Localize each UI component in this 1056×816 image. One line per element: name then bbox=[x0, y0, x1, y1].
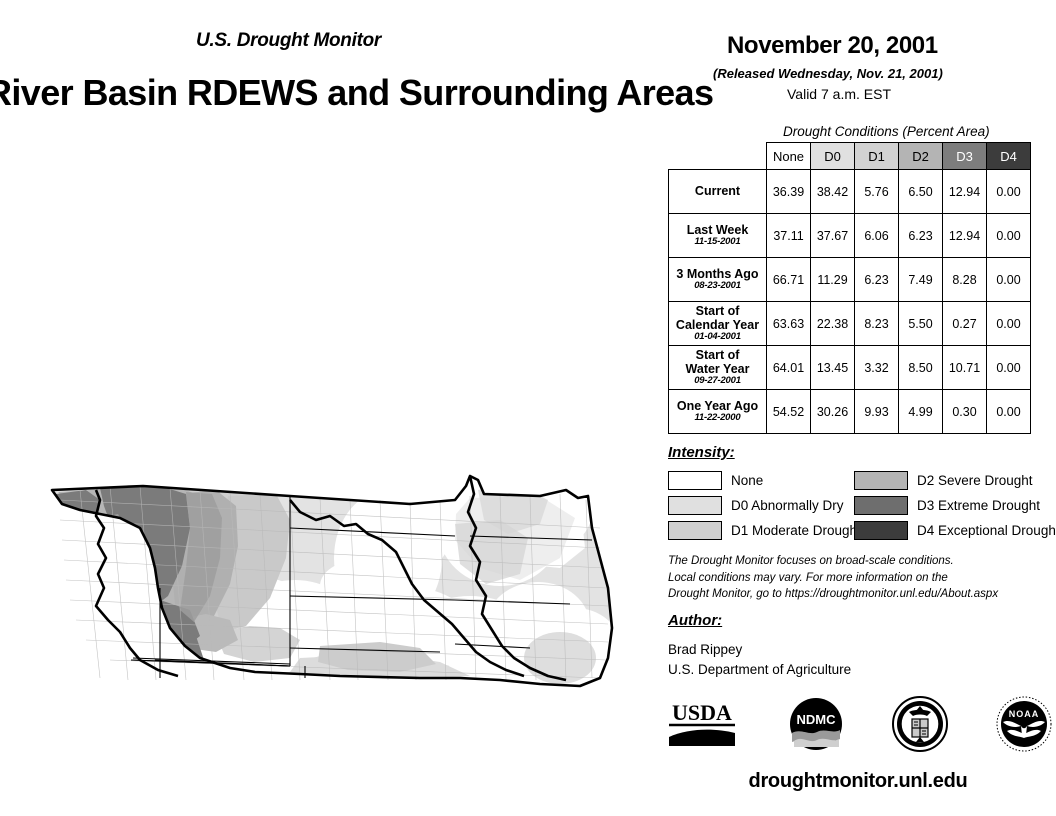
drought-map[interactable] bbox=[0, 228, 660, 688]
commerce-seal bbox=[891, 695, 949, 753]
legend-swatch-d0 bbox=[668, 496, 722, 515]
cell-d1: 3.32 bbox=[855, 346, 899, 390]
disclaimer-line-3: Drought Monitor, go to https://droughtmo… bbox=[668, 586, 998, 603]
cell-d2: 6.50 bbox=[899, 170, 943, 214]
ndmc-logo-svg: NDMC bbox=[787, 695, 845, 753]
cell-d3: 0.27 bbox=[943, 302, 987, 346]
table-row: Start ofWater Year09-27-200164.0113.453.… bbox=[669, 346, 1031, 390]
svg-text:NDMC: NDMC bbox=[797, 712, 837, 727]
row-date: 09-27-2001 bbox=[669, 376, 766, 387]
author-affiliation: U.S. Department of Agriculture bbox=[668, 660, 851, 680]
author-block: Brad Rippey U.S. Department of Agricultu… bbox=[668, 640, 851, 679]
row-date: 08-23-2001 bbox=[669, 281, 766, 292]
drought-conditions-table: None D0 D1 D2 D3 D4 Current36.3938.425.7… bbox=[668, 142, 1031, 434]
row-label: Start ofWater Year09-27-2001 bbox=[669, 346, 767, 390]
row-label: One Year Ago11-22-2000 bbox=[669, 390, 767, 434]
row-label: Start ofCalendar Year01-04-2001 bbox=[669, 302, 767, 346]
cell-d0: 37.67 bbox=[811, 214, 855, 258]
cell-d3: 10.71 bbox=[943, 346, 987, 390]
column-header-none: None bbox=[767, 143, 811, 170]
page-title: River Basin RDEWS and Surrounding Areas bbox=[0, 72, 713, 114]
legend-label-d2: D2 Severe Drought bbox=[917, 473, 1033, 488]
cell-d4: 0.00 bbox=[987, 214, 1031, 258]
legend-swatch-d1 bbox=[668, 521, 722, 540]
intensity-legend: NoneD2 Severe DroughtD0 Abnormally DryD3… bbox=[668, 468, 1048, 543]
cell-d1: 6.23 bbox=[855, 258, 899, 302]
disclaimer-line-1: The Drought Monitor focuses on broad-sca… bbox=[668, 553, 998, 570]
cell-d2: 6.23 bbox=[899, 214, 943, 258]
cell-d4: 0.00 bbox=[987, 258, 1031, 302]
cell-d2: 5.50 bbox=[899, 302, 943, 346]
usda-logo: USDA bbox=[663, 695, 741, 753]
cell-none: 54.52 bbox=[767, 390, 811, 434]
cell-d4: 0.00 bbox=[987, 170, 1031, 214]
noaa-logo: NOAA bbox=[995, 695, 1053, 753]
cell-d2: 7.49 bbox=[899, 258, 943, 302]
cell-none: 63.63 bbox=[767, 302, 811, 346]
legend-swatch-none bbox=[668, 471, 722, 490]
column-header-d0: D0 bbox=[811, 143, 855, 170]
cell-d4: 0.00 bbox=[987, 390, 1031, 434]
row-label: Last Week11-15-2001 bbox=[669, 214, 767, 258]
table-row: Start ofCalendar Year01-04-200163.6322.3… bbox=[669, 302, 1031, 346]
cell-d4: 0.00 bbox=[987, 346, 1031, 390]
legend-label-none: None bbox=[731, 473, 763, 488]
commerce-seal-svg bbox=[891, 695, 949, 753]
legend-label-d0: D0 Abnormally Dry bbox=[731, 498, 844, 513]
table-corner-cell bbox=[669, 143, 767, 170]
ndmc-logo: NDMC bbox=[787, 695, 845, 753]
table-row: Current36.3938.425.766.5012.940.00 bbox=[669, 170, 1031, 214]
cell-d1: 9.93 bbox=[855, 390, 899, 434]
cell-d3: 8.28 bbox=[943, 258, 987, 302]
svg-text:USDA: USDA bbox=[672, 700, 732, 725]
cell-d0: 30.26 bbox=[811, 390, 855, 434]
column-header-d2: D2 bbox=[899, 143, 943, 170]
cell-d0: 11.29 bbox=[811, 258, 855, 302]
row-label: 3 Months Ago08-23-2001 bbox=[669, 258, 767, 302]
table-row: 3 Months Ago08-23-200166.7111.296.237.49… bbox=[669, 258, 1031, 302]
cell-d0: 22.38 bbox=[811, 302, 855, 346]
cell-none: 64.01 bbox=[767, 346, 811, 390]
table-row: Last Week11-15-200137.1137.676.066.2312.… bbox=[669, 214, 1031, 258]
author-name: Brad Rippey bbox=[668, 640, 851, 660]
column-header-d4: D4 bbox=[987, 143, 1031, 170]
cell-d0: 38.42 bbox=[811, 170, 855, 214]
legend-label-d3: D3 Extreme Drought bbox=[917, 498, 1040, 513]
legend-label-d4: D4 Exceptional Drought bbox=[917, 523, 1056, 538]
program-label: U.S. Drought Monitor bbox=[196, 30, 381, 52]
legend-swatch-d2 bbox=[854, 471, 908, 490]
legend-swatch-d4 bbox=[854, 521, 908, 540]
disclaimer-text: The Drought Monitor focuses on broad-sca… bbox=[668, 553, 998, 603]
legend-label-d1: D1 Moderate Drought bbox=[731, 523, 861, 538]
logo-row: USDA NDMC NOAA bbox=[663, 693, 1053, 755]
table-body: Current36.3938.425.766.5012.940.00Last W… bbox=[669, 170, 1031, 434]
legend-item-d3: D3 Extreme Drought bbox=[854, 493, 1056, 518]
column-header-d3: D3 bbox=[943, 143, 987, 170]
cell-none: 36.39 bbox=[767, 170, 811, 214]
cell-d2: 8.50 bbox=[899, 346, 943, 390]
usda-logo-svg: USDA bbox=[663, 696, 741, 752]
author-heading: Author: bbox=[668, 612, 722, 629]
row-date: 11-22-2000 bbox=[669, 413, 766, 424]
cell-d1: 5.76 bbox=[855, 170, 899, 214]
row-date: 11-15-2001 bbox=[669, 237, 766, 248]
legend-item-none: None bbox=[668, 468, 786, 493]
cell-d3: 12.94 bbox=[943, 170, 987, 214]
table-header-row: None D0 D1 D2 D3 D4 bbox=[669, 143, 1031, 170]
legend-swatch-d3 bbox=[854, 496, 908, 515]
map-svg bbox=[0, 228, 660, 688]
legend-item-d2: D2 Severe Drought bbox=[854, 468, 1056, 493]
svg-text:NOAA: NOAA bbox=[1009, 709, 1040, 719]
cell-d2: 4.99 bbox=[899, 390, 943, 434]
disclaimer-line-2: Local conditions may vary. For more info… bbox=[668, 570, 998, 587]
issue-date: November 20, 2001 bbox=[727, 32, 938, 60]
cell-none: 66.71 bbox=[767, 258, 811, 302]
table-caption: Drought Conditions (Percent Area) bbox=[783, 124, 990, 139]
cell-d3: 12.94 bbox=[943, 214, 987, 258]
row-date: 01-04-2001 bbox=[669, 332, 766, 343]
cell-d4: 0.00 bbox=[987, 302, 1031, 346]
row-label: Current bbox=[669, 170, 767, 214]
valid-time: Valid 7 a.m. EST bbox=[787, 86, 891, 102]
map-base-layer bbox=[52, 444, 621, 688]
noaa-logo-svg: NOAA bbox=[995, 695, 1053, 753]
cell-d1: 8.23 bbox=[855, 302, 899, 346]
intensity-heading: Intensity: bbox=[668, 444, 735, 461]
release-note: (Released Wednesday, Nov. 21, 2001) bbox=[713, 66, 943, 81]
legend-item-d4: D4 Exceptional Drought bbox=[854, 518, 1056, 543]
column-header-d1: D1 bbox=[855, 143, 899, 170]
site-url[interactable]: droughtmonitor.unl.edu bbox=[663, 770, 1053, 793]
cell-d1: 6.06 bbox=[855, 214, 899, 258]
legend-item-d1: D1 Moderate Drought bbox=[668, 518, 786, 543]
cell-none: 37.11 bbox=[767, 214, 811, 258]
legend-item-d0: D0 Abnormally Dry bbox=[668, 493, 786, 518]
table-row: One Year Ago11-22-200054.5230.269.934.99… bbox=[669, 390, 1031, 434]
cell-d0: 13.45 bbox=[811, 346, 855, 390]
cell-d3: 0.30 bbox=[943, 390, 987, 434]
